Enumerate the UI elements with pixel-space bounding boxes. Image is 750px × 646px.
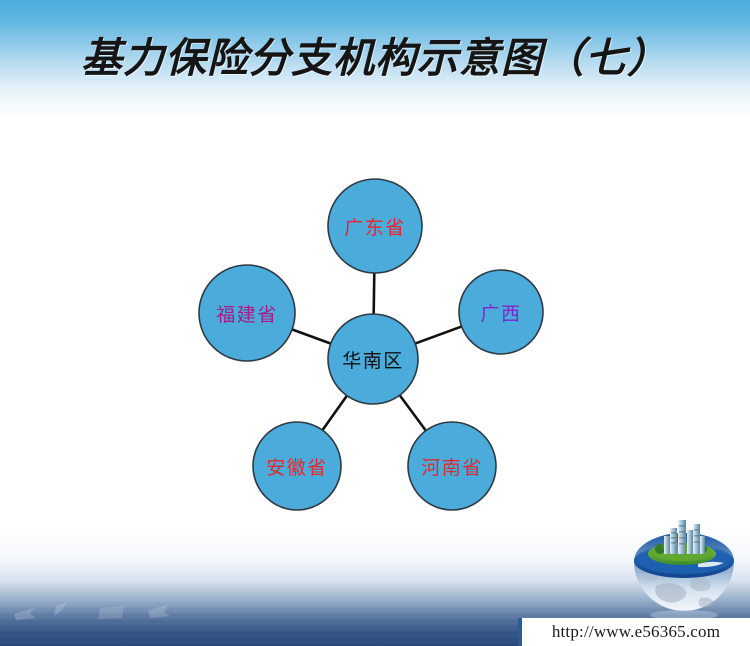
- diagram-node[interactable]: 广东省: [305, 210, 445, 242]
- diagram-node-label: 河南省: [421, 453, 483, 480]
- diagram-node[interactable]: 福建省: [177, 297, 317, 329]
- slide-canvas: 基力保险分支机构示意图（七）: [0, 0, 750, 646]
- diagram-node-label: 安徽省: [266, 453, 328, 480]
- diagram-node-label: 广东省: [344, 213, 406, 240]
- diagram-edge: [399, 394, 428, 433]
- diagram-node[interactable]: 安徽省: [227, 450, 367, 482]
- org-diagram: [0, 0, 750, 646]
- diagram-node[interactable]: 华南区: [303, 343, 443, 375]
- diagram-node-label: 广西: [480, 299, 521, 326]
- diagram-edge: [321, 394, 348, 432]
- diagram-node[interactable]: 广西: [431, 296, 571, 328]
- diagram-node-label: 华南区: [342, 346, 404, 373]
- diagram-edge: [290, 329, 332, 344]
- diagram-node[interactable]: 河南省: [382, 450, 522, 482]
- diagram-node-label: 福建省: [216, 300, 278, 327]
- diagram-edge: [374, 271, 375, 316]
- diagram-edge: [413, 326, 463, 344]
